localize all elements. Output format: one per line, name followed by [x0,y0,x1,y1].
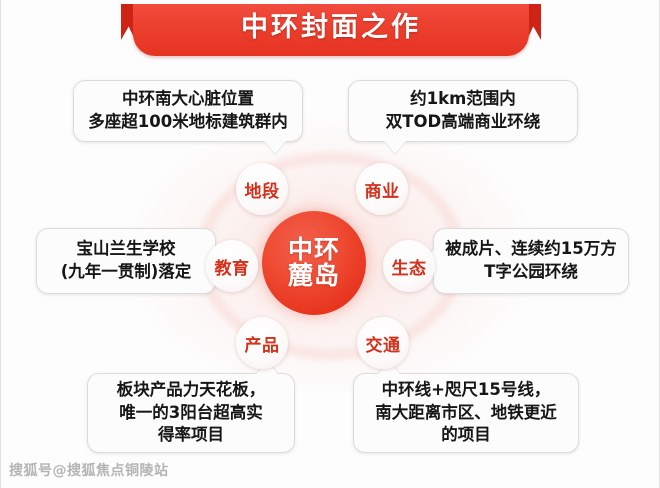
bubble-product[interactable]: 产品 [236,317,288,369]
bubble-commerce-label: 商业 [365,177,400,202]
bubble-education-label: 教育 [215,254,250,279]
bubble-transport-label: 交通 [366,331,401,356]
notch-top-left [264,141,286,154]
infobox-top-right-line2: 双TOD高端商业环绕 [386,111,540,134]
bubble-transport[interactable]: 交通 [357,317,409,369]
infobox-bottom-left-line1: 板块产品力天花板， [117,379,266,402]
infobox-bottom-right-line1: 中环线+咫尺15号线， [375,379,557,402]
infographic-canvas: 中环封面之作 中环南大心脏位置 多座超100米地标建筑群内 约1km范围内 双T… [0,0,660,488]
infobox-left: 宝山兰生学校 (九年一贯制)落定 [36,228,216,294]
infobox-top-left: 中环南大心脏位置 多座超100米地标建筑群内 [73,80,303,142]
infobox-top-right-line1: 约1km范围内 [386,88,540,111]
infobox-left-line2: (九年一贯制)落定 [61,261,192,284]
infobox-right-line2: T字公园环绕 [445,261,616,284]
bubble-product-label: 产品 [245,331,280,356]
ribbon-tail-right-icon [527,4,541,40]
infobox-top-left-line2: 多座超100米地标建筑群内 [88,111,287,134]
infobox-bottom-right: 中环线+咫尺15号线， 南大距离市区、地铁更近 的项目 [353,373,579,453]
hub-line1: 中环 [288,237,340,263]
bubble-location[interactable]: 地段 [236,163,288,215]
watermark: 搜狐号@搜狐焦点铜陵站 [9,460,169,480]
banner-title: 中环封面之作 [133,4,529,52]
infobox-left-line1: 宝山兰生学校 [61,238,192,261]
infobox-top-right: 约1km范围内 双TOD高端商业环绕 [348,80,578,142]
infobox-bottom-right-line3: 的项目 [375,424,557,447]
infobox-bottom-left-line3: 得率项目 [117,424,266,447]
infobox-right-line1: 被成片、连续约15万方 [445,238,616,261]
infobox-bottom-left: 板块产品力天花板， 唯一的3阳台超高实 得率项目 [87,373,295,453]
title-ribbon: 中环封面之作 [121,4,541,56]
infobox-top-left-line1: 中环南大心脏位置 [88,88,287,111]
infobox-right: 被成片、连续约15万方 T字公园环绕 [433,228,629,294]
hub-center: 中环 麓岛 [262,211,366,315]
bubble-commerce[interactable]: 商业 [356,163,408,215]
bubble-location-label: 地段 [245,177,280,202]
infobox-bottom-left-line2: 唯一的3阳台超高实 [117,402,266,425]
bubble-education[interactable]: 教育 [206,240,258,292]
hub-line2: 麓岛 [288,263,340,289]
bubble-ecology-label: 生态 [392,254,427,279]
infobox-bottom-right-line2: 南大距离市区、地铁更近 [375,402,557,425]
bubble-ecology[interactable]: 生态 [383,240,435,292]
notch-top-right [384,141,406,154]
